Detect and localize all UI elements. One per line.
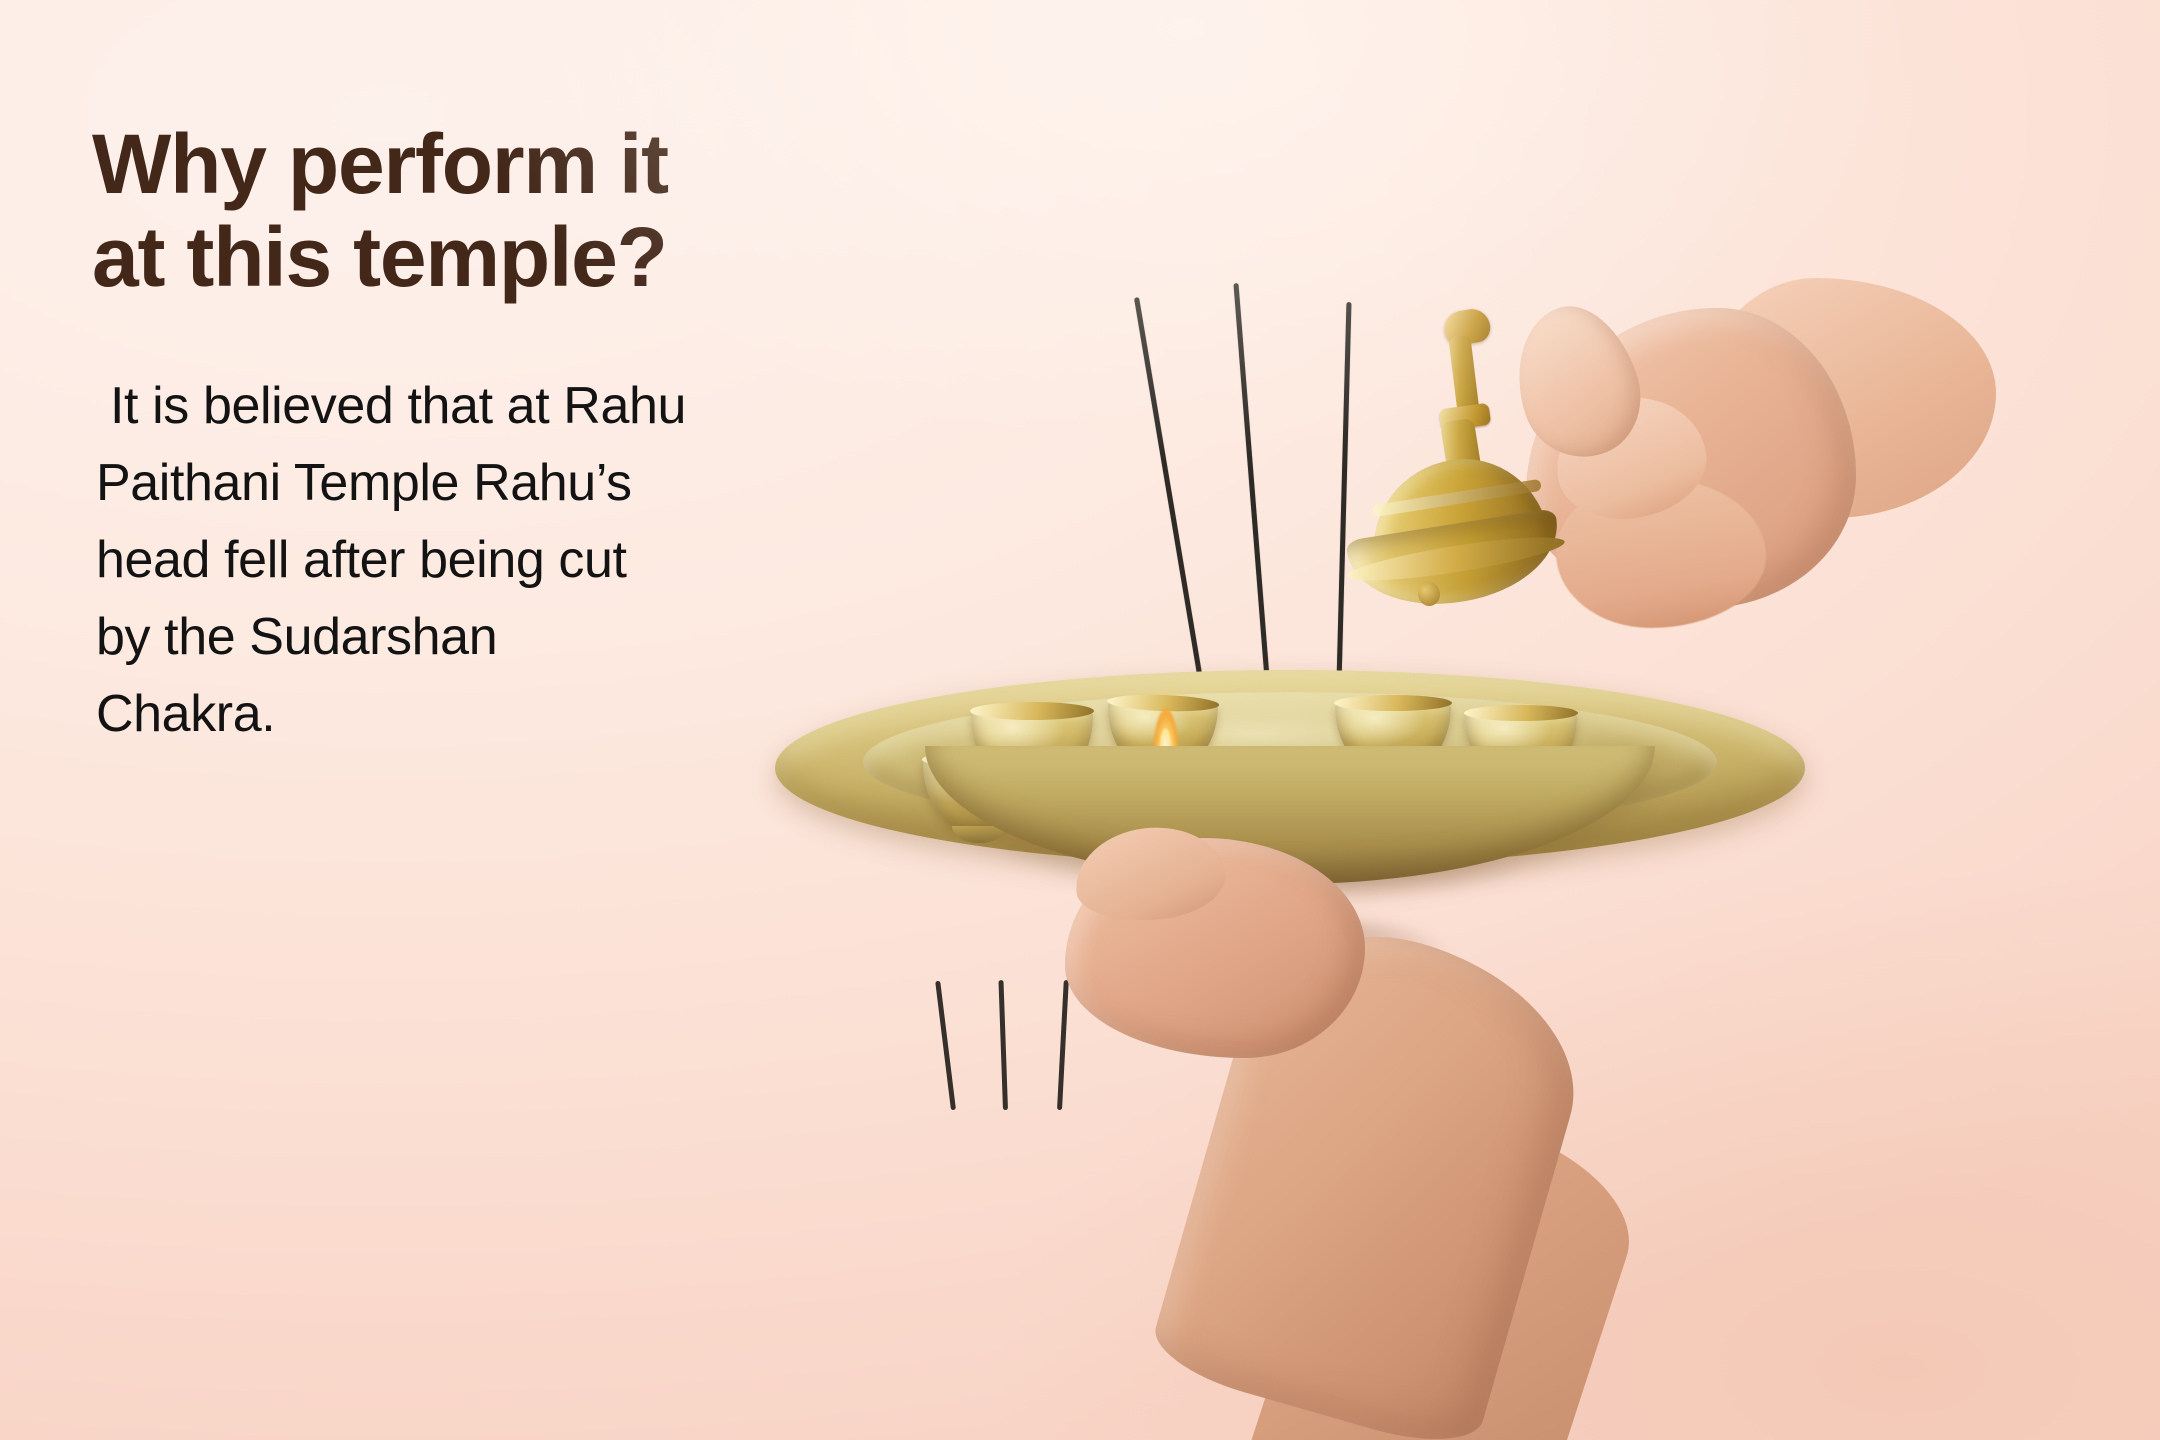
incense-stick-lower xyxy=(935,981,956,1111)
page-title-line-1: Why perform it xyxy=(92,118,912,211)
page-title-line-2: at this temple? xyxy=(92,211,912,304)
incense-stick-lower xyxy=(1057,980,1069,1110)
body-line-2: Paithani Temple Rahu’s xyxy=(96,445,796,522)
body-line-5: Chakra. xyxy=(96,676,796,753)
text-column: Why perform it at this temple? It is bel… xyxy=(92,0,872,1440)
slide-canvas: Why perform it at this temple? It is bel… xyxy=(0,0,2160,1440)
body-line-3: head fell after being cut xyxy=(96,522,796,599)
body-paragraph: It is believed that at Rahu Paithani Tem… xyxy=(96,368,796,753)
page-title: Why perform it at this temple? xyxy=(92,118,912,304)
incense-stick-lower xyxy=(998,980,1008,1110)
puja-photograph xyxy=(1050,230,2160,1330)
bell-stem xyxy=(1448,335,1479,415)
body-line-1: It is believed that at Rahu xyxy=(96,368,796,445)
body-line-4: by the Sudarshan xyxy=(96,599,796,676)
brass-thali xyxy=(775,560,1825,890)
